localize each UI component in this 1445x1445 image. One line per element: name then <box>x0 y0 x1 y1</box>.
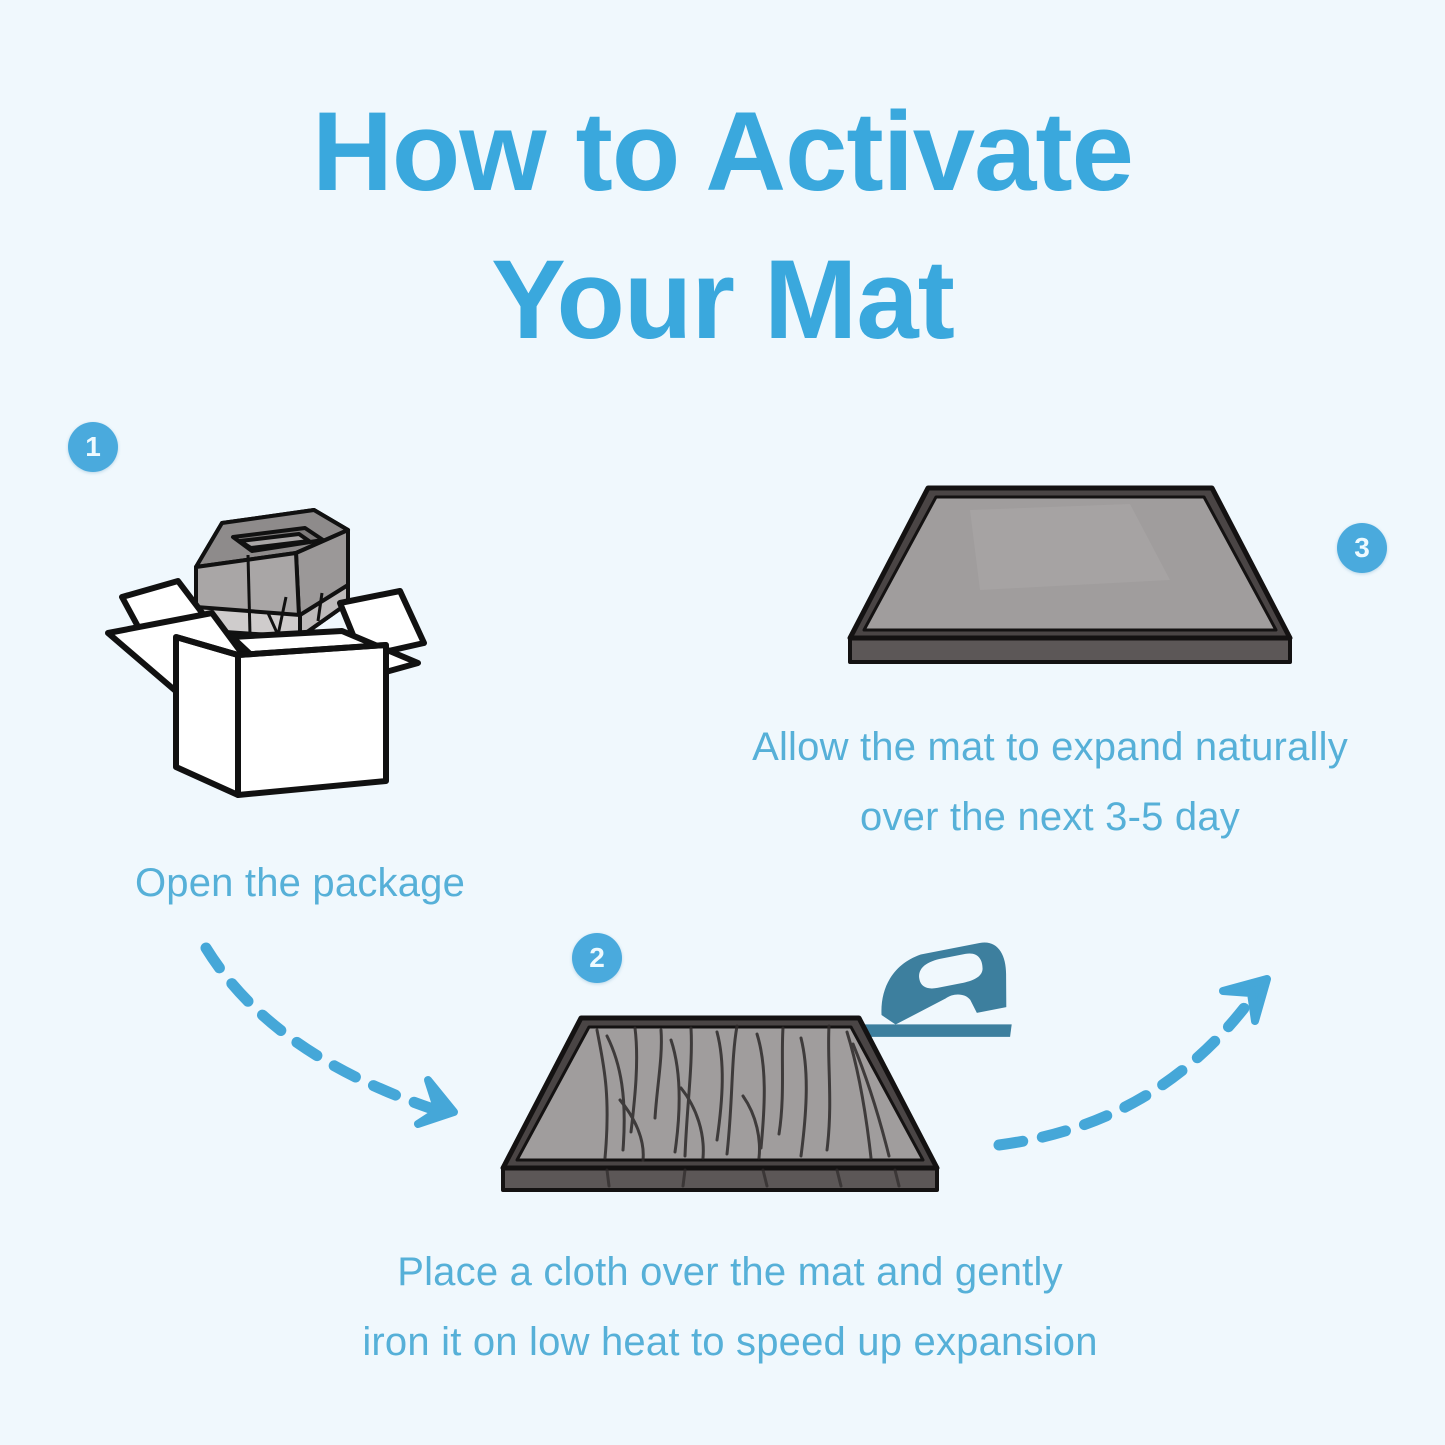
step-1-caption: Open the package <box>45 848 555 918</box>
step-badge-2: 2 <box>572 933 622 983</box>
step-3-caption-line-1: Allow the mat to expand naturally <box>670 712 1430 782</box>
step-2-caption-line-2: iron it on low heat to speed up expansio… <box>265 1307 1195 1377</box>
mat-with-cloth-icon <box>485 1000 955 1215</box>
arrow-step1-to-step2-icon <box>170 930 480 1140</box>
open-box-icon <box>100 485 440 825</box>
step-3-caption: Allow the mat to expand naturally over t… <box>670 712 1430 852</box>
infographic-canvas: How to Activate Your Mat 1 <box>0 0 1445 1445</box>
page-title: How to Activate Your Mat <box>0 78 1445 374</box>
step-2-caption-line-1: Place a cloth over the mat and gently <box>265 1237 1195 1307</box>
step-2-caption: Place a cloth over the mat and gently ir… <box>265 1237 1195 1377</box>
step-badge-1: 1 <box>68 422 118 472</box>
step-3-caption-line-2: over the next 3-5 day <box>670 782 1430 852</box>
title-line-2: Your Mat <box>0 226 1445 374</box>
arrow-step2-to-step3-icon <box>985 955 1295 1165</box>
step-badge-3: 3 <box>1337 523 1387 573</box>
foam-mat-icon <box>830 470 1310 685</box>
title-line-1: How to Activate <box>0 78 1445 226</box>
